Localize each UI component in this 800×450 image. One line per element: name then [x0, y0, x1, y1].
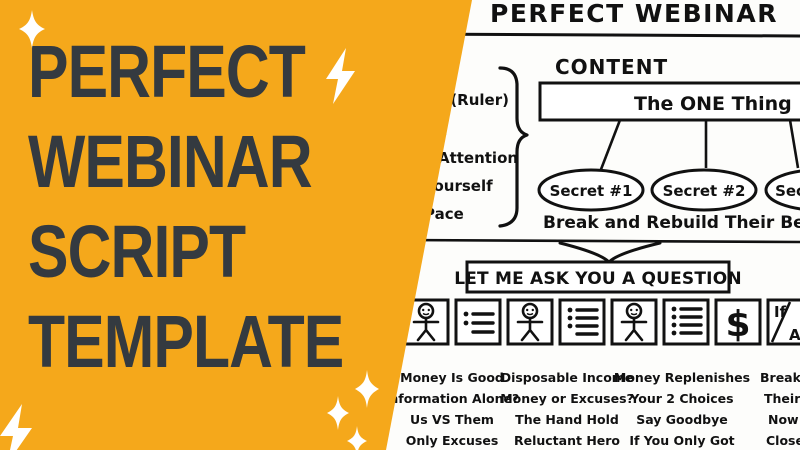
sparkle-top-left	[14, 6, 50, 57]
svg-text:$: $	[725, 304, 750, 345]
secret-2-label: Secret #2	[663, 182, 746, 200]
title-line-3: TEMPLATE	[28, 291, 350, 392]
sparkle-bottom-right-lower	[344, 424, 370, 450]
closing-3-line-1: Their 2	[764, 391, 800, 406]
secret-1-label: Secret #1	[550, 182, 633, 200]
title-line-2: SCRIPT	[28, 201, 350, 302]
closing-2-line-1: Your 2 Choices	[629, 391, 733, 406]
lightning-bolt-icon	[0, 404, 40, 450]
lightning-bottom-left	[0, 404, 40, 450]
closing-1-line-2: The Hand Hold	[515, 412, 619, 427]
closing-0-line-0: Money Is Good	[400, 370, 504, 385]
closing-0-line-1: Information Alone?	[385, 391, 519, 406]
closing-1-line-1: Money or Excuses?	[500, 391, 634, 406]
closing-3-line-3: Close	[766, 433, 800, 448]
stick-figure-icon	[612, 300, 656, 344]
diamond-sparkle-icon	[344, 424, 370, 450]
closing-0-line-3: Only Excuses	[406, 433, 499, 448]
closing-3-line-0: Break O	[760, 370, 800, 385]
bullet-list-icon	[456, 300, 500, 344]
closing-2-line-0: Money Replenishes	[614, 370, 750, 385]
one-thing-box: The ONE Thing	[540, 83, 800, 120]
diamond-sparkle-icon	[352, 368, 382, 410]
diamond-sparkle-icon	[14, 6, 50, 52]
one-thing-label: The ONE Thing	[634, 93, 792, 115]
svg-text:A: A	[789, 326, 800, 344]
question-box: LET ME ASK YOU A QUESTION	[454, 262, 742, 292]
closing-2-line-3: If You Only Got	[629, 433, 734, 448]
thumbnail-canvas: PERFECT WEBINAR se (Ruler) nd d Attentio…	[0, 0, 800, 450]
sparkle-bottom-right-upper	[352, 368, 382, 415]
stick-figure-icon	[508, 300, 552, 344]
if-a-fraction-icon: If A	[768, 300, 800, 344]
dollar-sign-icon: $	[716, 300, 760, 345]
closing-2-line-2: Say Goodbye	[636, 412, 728, 427]
closing-0-line-2: Us VS Them	[410, 412, 494, 427]
lightning-top-right	[320, 46, 362, 111]
closing-3-line-2: Now &	[768, 412, 800, 427]
icon-strip: $ If A	[352, 300, 800, 345]
secret-3-label: Sec	[775, 182, 800, 200]
board-heading: PERFECT WEBINAR	[490, 0, 778, 28]
closing-1-line-3: Reluctant Hero	[514, 433, 620, 448]
belief-line: Break and Rebuild Their Belief P	[543, 213, 800, 233]
title-line-1: WEBINAR	[28, 111, 350, 212]
question-box-label: LET ME ASK YOU A QUESTION	[454, 269, 742, 289]
secret-oval-2: Secret #2	[652, 170, 756, 210]
content-label: CONTENT	[555, 55, 668, 79]
bullet-list-icon	[664, 300, 708, 344]
title-line-0: PERFECT	[28, 21, 350, 122]
lightning-bolt-icon	[320, 46, 362, 106]
secret-oval-1: Secret #1	[539, 170, 643, 210]
bullet-list-icon	[560, 300, 604, 344]
